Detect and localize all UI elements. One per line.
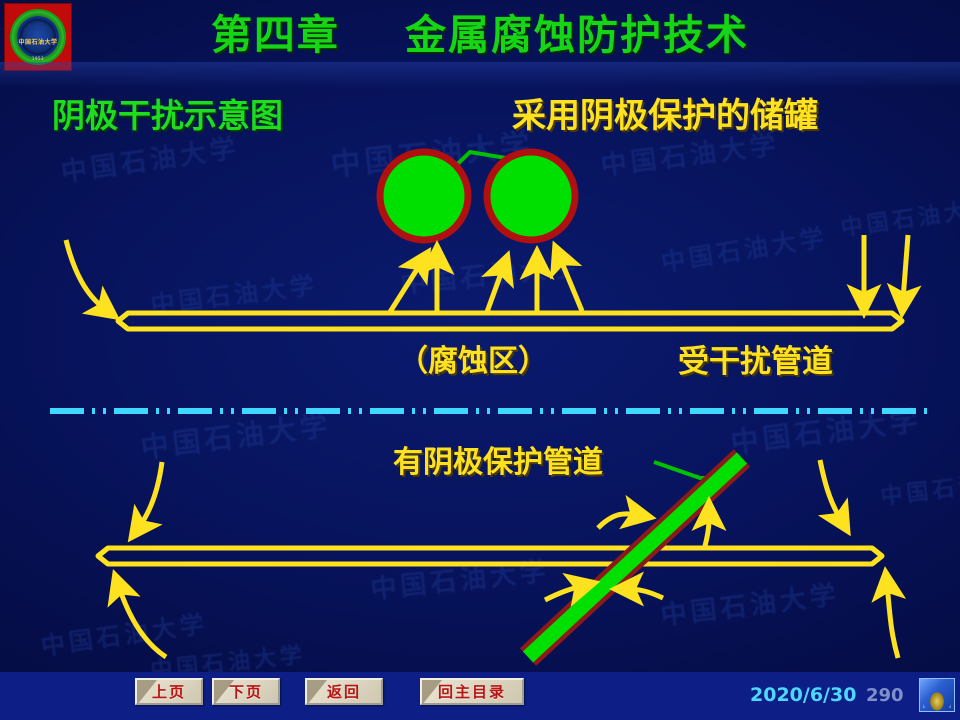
next-page-button[interactable]: 下页 (212, 678, 280, 705)
prev-page-label: 上页 (152, 681, 186, 702)
storage-tank-right (487, 152, 575, 240)
slide-canvas: 中国石油大学中国石油大学中国石油大学中国石油大学中国石油大学中国石油大学中国石油… (0, 0, 960, 720)
main-menu-label: 回主目录 (438, 681, 506, 702)
next-page-label: 下页 (229, 681, 263, 702)
bottom-navigation-bar: 上页 下页 返回 回主目录 2020/6/30 290 (0, 672, 960, 720)
back-button[interactable]: 返回 (305, 678, 383, 705)
storage-tank-left (380, 152, 468, 240)
slide-date: 2020/6/30 (750, 684, 856, 706)
anode-bar (528, 458, 742, 657)
main-menu-button[interactable]: 回主目录 (420, 678, 524, 705)
pipeline-upper (118, 313, 902, 329)
back-label: 返回 (327, 681, 361, 702)
slide-page-number: 290 (866, 685, 904, 706)
logo-cn-text: 中国石油大学 (12, 37, 64, 46)
prev-page-button[interactable]: 上页 (135, 678, 203, 705)
outgoing-arrows-upper-right (864, 235, 908, 300)
label-corrosion-zone: （腐蚀区） (398, 336, 548, 380)
corner-emblem-icon (919, 678, 955, 712)
label-interfered-pipeline: 受干扰管道 (678, 336, 833, 381)
current-arrows-upper (390, 258, 582, 312)
pipeline-lower (98, 548, 882, 564)
label-protected-pipeline: 有阴极保护管道 (393, 437, 603, 481)
logo-year: 1953 (12, 56, 64, 61)
lower-side-arrows (119, 460, 898, 658)
incoming-arrow-upper-left (66, 240, 105, 309)
